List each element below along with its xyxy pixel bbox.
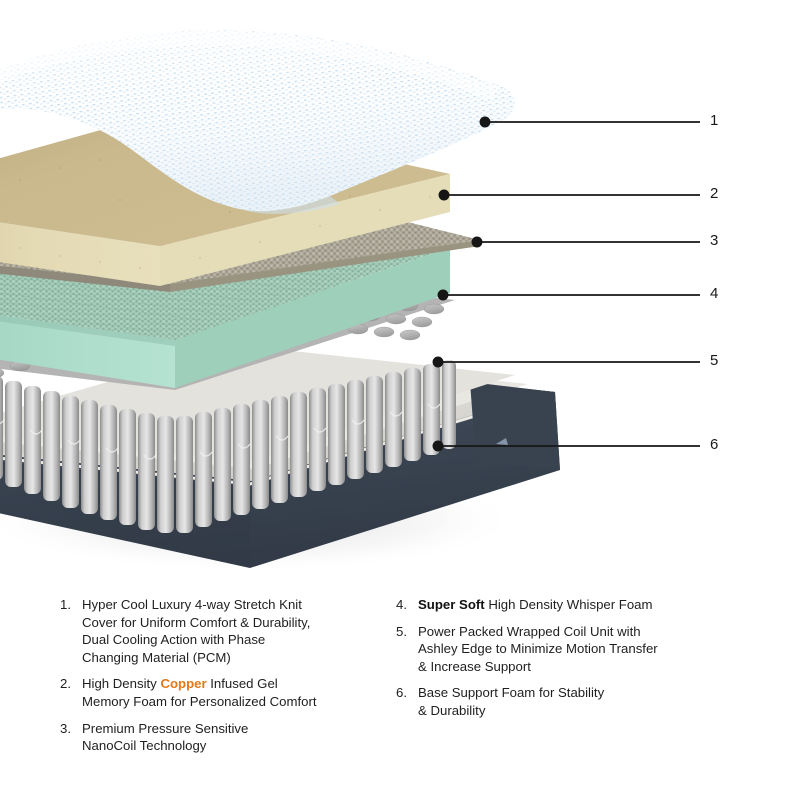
- legend-item-line: Dual Cooling Action with Phase: [82, 631, 390, 649]
- legend-item-number: 2.: [60, 675, 78, 693]
- legend-text: High Density: [82, 676, 160, 691]
- legend-item-line: Hyper Cool Luxury 4-way Stretch Knit: [82, 596, 390, 614]
- callout-number-2: 2: [710, 186, 718, 201]
- legend-item: 4.Super Soft High Density Whisper Foam: [396, 596, 741, 614]
- callout-number-4: 4: [710, 286, 718, 301]
- legend-item: 5.Power Packed Wrapped Coil Unit withAsh…: [396, 623, 741, 676]
- legend-item-number: 4.: [396, 596, 414, 614]
- legend-item-line: Cover for Uniform Comfort & Durability,: [82, 614, 390, 632]
- legend-item-line: Base Support Foam for Stability: [418, 684, 741, 702]
- legend-column-left: 1.Hyper Cool Luxury 4-way Stretch KnitCo…: [60, 596, 390, 764]
- legend-item-line: Premium Pressure Sensitive: [82, 720, 390, 738]
- copper-highlight: Copper: [160, 676, 206, 691]
- legend-text: Base Support Foam for Stability: [418, 685, 604, 700]
- mattress-exploded-illustration: [0, 0, 800, 590]
- legend-text: Memory Foam for Personalized Comfort: [82, 694, 317, 709]
- callout-number-1: 1: [710, 113, 718, 128]
- legend-item-line: NanoCoil Technology: [82, 737, 390, 755]
- legend-text: & Increase Support: [418, 659, 531, 674]
- legend-item: 3.Premium Pressure SensitiveNanoCoil Tec…: [60, 720, 390, 755]
- legend-text: Ashley Edge to Minimize Motion Transfer: [418, 641, 658, 656]
- legend-text: Dual Cooling Action with Phase: [82, 632, 265, 647]
- legend-item-line: Ashley Edge to Minimize Motion Transfer: [418, 640, 741, 658]
- legend-item-line: Memory Foam for Personalized Comfort: [82, 693, 390, 711]
- legend-item: 1.Hyper Cool Luxury 4-way Stretch KnitCo…: [60, 596, 390, 666]
- legend-text: Premium Pressure Sensitive: [82, 721, 248, 736]
- legend-text: NanoCoil Technology: [82, 738, 206, 753]
- legend-text: High Density Whisper Foam: [485, 597, 653, 612]
- legend-item: 6.Base Support Foam for Stability& Durab…: [396, 684, 741, 719]
- legend-item-line: & Durability: [418, 702, 741, 720]
- legend: 1.Hyper Cool Luxury 4-way Stretch KnitCo…: [0, 596, 800, 800]
- legend-text: & Durability: [418, 703, 485, 718]
- legend-item: 2.High Density Copper Infused GelMemory …: [60, 675, 390, 710]
- callout-number-5: 5: [710, 353, 718, 368]
- bold-highlight: Super Soft: [418, 597, 485, 612]
- callout-number-3: 3: [710, 233, 718, 248]
- legend-item-number: 3.: [60, 720, 78, 738]
- legend-text: Power Packed Wrapped Coil Unit with: [418, 624, 641, 639]
- legend-item-number: 5.: [396, 623, 414, 641]
- legend-text: Changing Material (PCM): [82, 650, 231, 665]
- legend-item-number: 1.: [60, 596, 78, 614]
- legend-text: Hyper Cool Luxury 4-way Stretch Knit: [82, 597, 302, 612]
- legend-text: Infused Gel: [207, 676, 278, 691]
- legend-text: Cover for Uniform Comfort & Durability,: [82, 615, 310, 630]
- legend-item-line: Power Packed Wrapped Coil Unit with: [418, 623, 741, 641]
- legend-column-right: 4.Super Soft High Density Whisper Foam5.…: [396, 596, 741, 729]
- legend-item-line: & Increase Support: [418, 658, 741, 676]
- callout-number-6: 6: [710, 437, 718, 452]
- legend-item-line: Changing Material (PCM): [82, 649, 390, 667]
- mattress-layers-diagram: 1 2 3 4 5 6: [0, 0, 800, 590]
- legend-item-line: Super Soft High Density Whisper Foam: [418, 596, 741, 614]
- legend-item-line: High Density Copper Infused Gel: [82, 675, 390, 693]
- legend-item-number: 6.: [396, 684, 414, 702]
